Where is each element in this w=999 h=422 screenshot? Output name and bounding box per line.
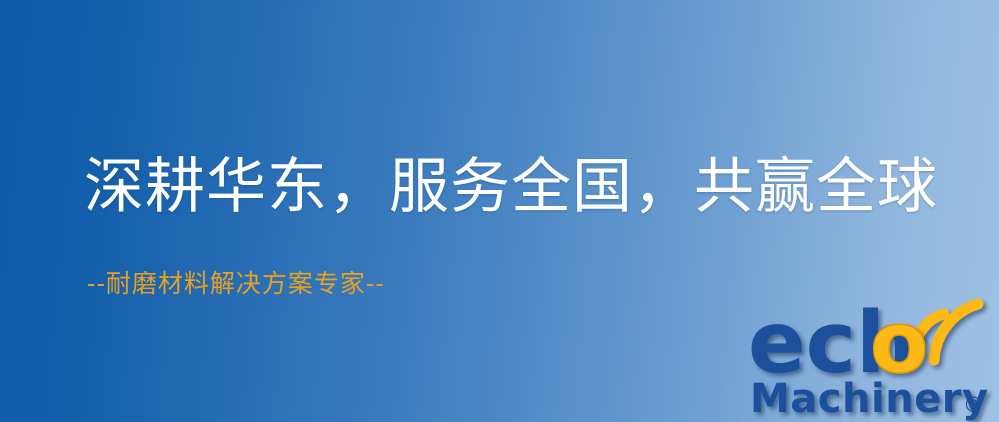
promo-banner: 深耕华东，服务全国，共赢全球 --耐磨材料解决方案专家-- ech o	[0, 0, 999, 422]
logo-tagline: Machinery	[750, 376, 989, 422]
registered-trademark-icon: ®	[963, 393, 984, 417]
echo-machinery-logo: ech o Machinery ®	[748, 296, 999, 422]
banner-subtitle: --耐磨材料解决方案专家--	[87, 267, 385, 301]
logo-svg: ech o Machinery ®	[748, 296, 999, 422]
brand-logo: ech o Machinery ®	[748, 296, 999, 422]
page-title: 深耕华东，服务全国，共赢全球	[84, 152, 938, 222]
